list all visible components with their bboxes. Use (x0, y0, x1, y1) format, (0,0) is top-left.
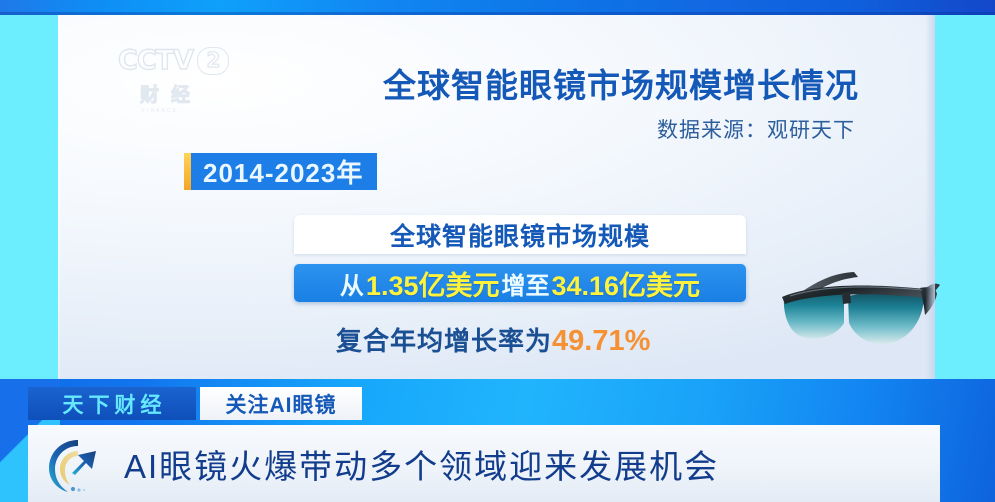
smart-sunglasses-image (774, 253, 984, 361)
broadcast-screen: CCTV2 财经 FINANCE 全球智能眼镜市场规模增长情况 数据来源：观研天… (0, 0, 995, 502)
cctv-finance-swoosh-logo (44, 433, 110, 495)
period-box: 2014-2023年 (191, 153, 377, 190)
period-label: 2014-2023年 (203, 153, 363, 190)
cctv-subtitle-en: FINANCE (118, 108, 250, 114)
statement-headline-pill: 全球智能眼镜市场规模 (294, 215, 746, 254)
cctv-channel-logo: CCTV2 财经 FINANCE (118, 47, 250, 125)
cctv-subtitle: 财经 (118, 80, 250, 107)
page-title: 全球智能眼镜市场规模增长情况 (383, 59, 859, 107)
tab-topic-label: 关注AI眼镜 (226, 389, 337, 419)
tab-topic-name[interactable]: 关注AI眼镜 (200, 387, 362, 420)
to-label: 增至 (501, 266, 549, 301)
graphic-panel: CCTV2 财经 FINANCE 全球智能眼镜市场规模增长情况 数据来源：观研天… (58, 15, 935, 379)
data-source-label: 数据来源：观研天下 (657, 114, 855, 144)
cagr-label: 复合年均增长率为 (336, 321, 552, 358)
period-accent-bar (184, 153, 191, 190)
from-value: 1.35亿美元 (366, 264, 500, 303)
cctv-channel-number: 2 (197, 47, 229, 75)
cagr-value: 49.71% (552, 325, 650, 358)
statement-figures-bar: 从 1.35亿美元 增至 34.16亿美元 (294, 264, 746, 302)
to-value: 34.16亿美元 (551, 264, 700, 303)
tab-program-name[interactable]: 天下财经 (28, 387, 196, 420)
cctv-wordmark-text: CCTV (118, 45, 193, 76)
tab-program-label: 天下财经 (58, 389, 167, 419)
cagr-line: 复合年均增长率为 49.71% (336, 321, 650, 358)
headline-ticker: AI眼镜火爆带动多个领域迎来发展机会 (28, 425, 940, 502)
left-cyan-band (0, 15, 58, 379)
cctv-wordmark: CCTV2 (118, 47, 250, 75)
period-badge: 2014-2023年 (184, 153, 377, 190)
statement-headline-text: 全球智能眼镜市场规模 (390, 217, 650, 253)
top-decor-strip (0, 0, 995, 15)
from-label: 从 (340, 266, 364, 301)
headline-text: AI眼镜火爆带动多个领域迎来发展机会 (124, 440, 719, 488)
